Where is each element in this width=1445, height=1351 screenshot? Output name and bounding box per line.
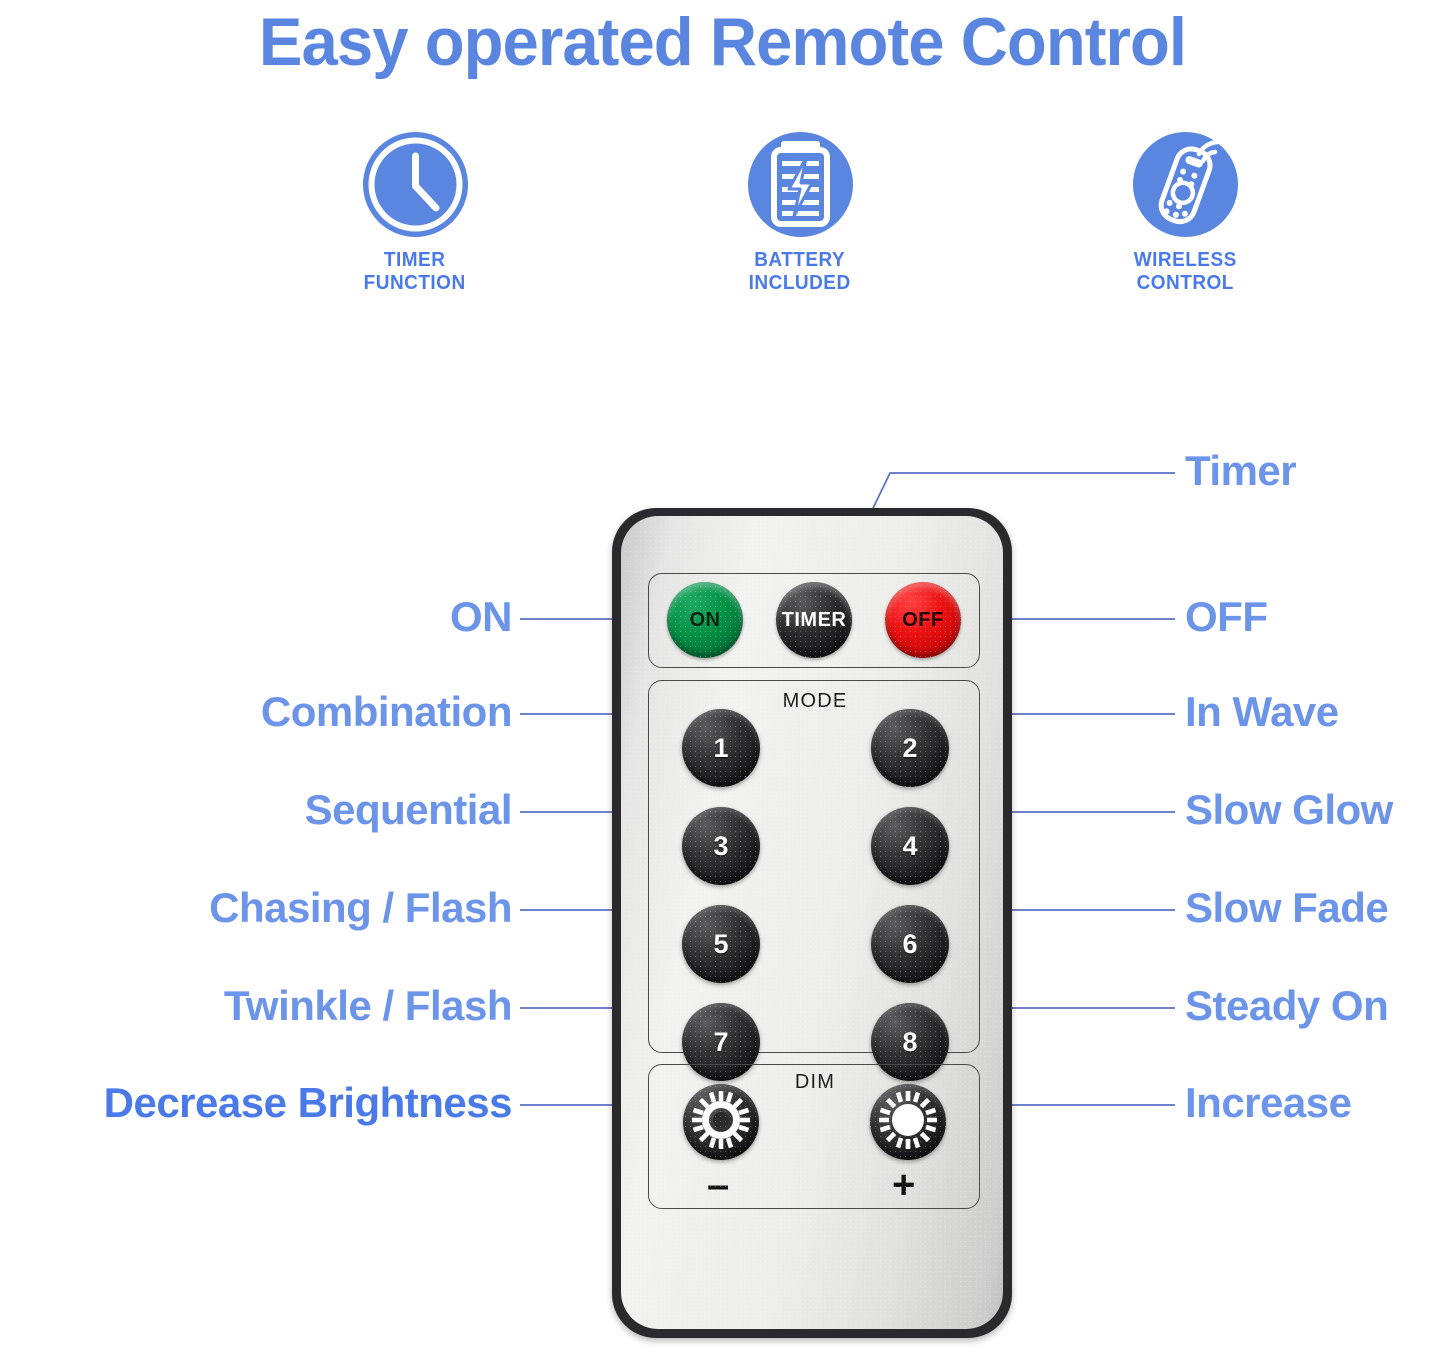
feature-battery-included: BATTERY INCLUDED <box>685 132 915 295</box>
dim-decrease-button[interactable] <box>683 1084 759 1160</box>
callout-chasing-flash: Chasing / Flash <box>0 887 512 929</box>
brightness-high-icon <box>877 1089 939 1156</box>
mode-button-2[interactable]: 2 <box>871 709 949 787</box>
page-title: Easy operated Remote Control <box>29 0 1416 84</box>
mode-button-3[interactable]: 3 <box>682 807 760 885</box>
callout-combination: Combination <box>0 691 512 733</box>
power-panel: ON TIMER OFF <box>648 573 980 668</box>
callout-decrease-brightness: Decrease Brightness <box>0 1082 512 1124</box>
callout-steady-on: Steady On <box>1185 985 1388 1027</box>
callout-on: ON <box>0 596 512 638</box>
remote-icon <box>1133 132 1238 237</box>
mode-button-6[interactable]: 6 <box>871 905 949 983</box>
dim-panel: DIM <box>648 1064 980 1209</box>
feature-label: TIMER FUNCTION <box>364 249 466 295</box>
mode-button-5[interactable]: 5 <box>682 905 760 983</box>
callout-sequential: Sequential <box>0 789 512 831</box>
brightness-low-icon <box>690 1089 752 1156</box>
feature-wireless-control: WIRELESS CONTROL <box>1070 132 1300 295</box>
callout-off: OFF <box>1185 596 1267 638</box>
mode-button-4[interactable]: 4 <box>871 807 949 885</box>
callout-increase: Increase <box>1185 1082 1351 1124</box>
clock-icon <box>363 132 468 237</box>
feature-label: WIRELESS CONTROL <box>1133 249 1236 295</box>
feature-timer-function: TIMER FUNCTION <box>300 132 530 295</box>
mode-button-1[interactable]: 1 <box>682 709 760 787</box>
remote-control-device: ON TIMER OFF MODE 1 2 3 4 5 6 7 8 DIM <box>612 508 1012 1338</box>
callout-twinkle-flash: Twinkle / Flash <box>0 985 512 1027</box>
mode-section-label: MODE <box>649 690 981 713</box>
feature-label: BATTERY INCLUDED <box>749 249 851 295</box>
on-button[interactable]: ON <box>667 582 743 658</box>
feature-badges: TIMER FUNCTION BATTERY INCLUDED <box>300 132 1300 312</box>
dim-increase-sign: + <box>892 1165 915 1205</box>
timer-button[interactable]: TIMER <box>776 582 852 658</box>
callout-timer: Timer <box>1185 450 1296 492</box>
dim-decrease-sign: – <box>707 1165 729 1205</box>
dim-increase-button[interactable] <box>870 1084 946 1160</box>
battery-icon <box>748 132 853 237</box>
off-button[interactable]: OFF <box>885 582 961 658</box>
callout-in-wave: In Wave <box>1185 691 1339 733</box>
mode-panel: MODE 1 2 3 4 5 6 7 8 <box>648 680 980 1053</box>
callout-slow-glow: Slow Glow <box>1185 789 1393 831</box>
remote-faceplate: ON TIMER OFF MODE 1 2 3 4 5 6 7 8 DIM <box>621 516 1003 1329</box>
callout-slow-fade: Slow Fade <box>1185 887 1388 929</box>
